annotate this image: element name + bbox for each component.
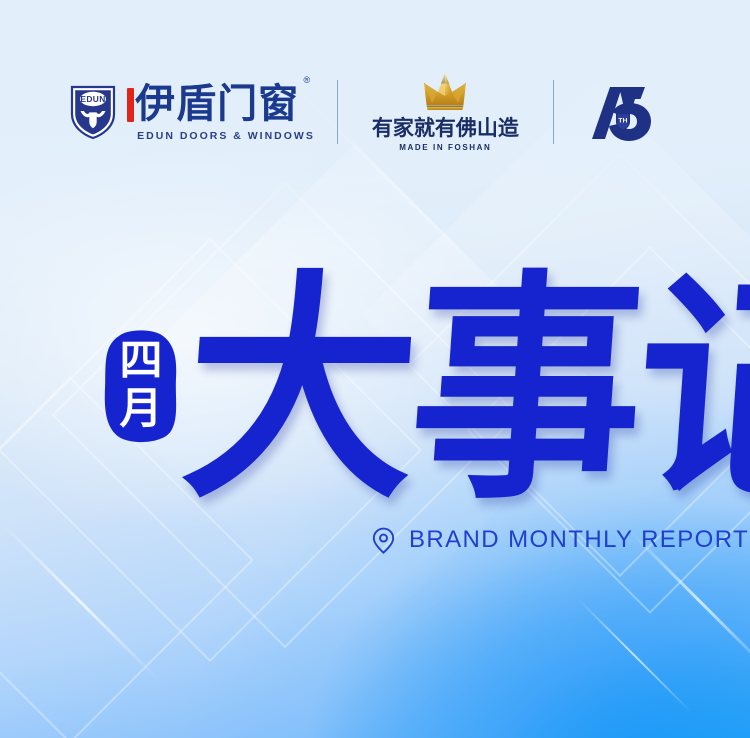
registered-mark: ® — [304, 75, 311, 85]
anniversary-badge: TH — [554, 81, 682, 143]
month-stamp: 四 月 — [101, 326, 181, 446]
foshan-english-slogan: MADE IN FOSHAN — [399, 143, 491, 152]
header-divider-1 — [337, 80, 338, 144]
edun-shield-logo-icon: EDUN — [68, 82, 118, 140]
foshan-chinese-slogan: 有家就有佛山造 — [372, 117, 519, 139]
subtitle-row: BRAND MONTHLY REPORT — [370, 526, 749, 554]
background-streak-5 — [578, 599, 693, 714]
brand-english-tagline: EDUN DOORS & WINDOWS — [127, 130, 315, 142]
brand-text-block: 伊盾门窗 ® EDUN DOORS & WINDOWS — [127, 82, 315, 142]
header-bar: EDUN 伊盾门窗 ® EDUN DOORS & WINDOWS — [0, 72, 750, 152]
svg-text:EDUN: EDUN — [80, 94, 105, 104]
subtitle-text: BRAND MONTHLY REPORT — [409, 526, 749, 554]
headline-calligraphy: 大事记 — [177, 273, 750, 514]
red-accent-bar — [127, 88, 134, 122]
header-divider-2 — [553, 80, 554, 144]
anniversary-ordinal-text: TH — [618, 118, 627, 125]
brand-chinese-name: 伊盾门窗 — [135, 84, 299, 124]
brand-lockup[interactable]: EDUN 伊盾门窗 ® EDUN DOORS & WINDOWS — [68, 82, 337, 142]
foshan-emblem: 有家就有佛山造 MADE IN FOSHAN — [338, 72, 553, 152]
brand-name-row: 伊盾门窗 ® — [127, 84, 299, 124]
location-pin-icon — [370, 527, 397, 554]
crown-icon — [408, 72, 482, 114]
poster-canvas: EDUN 伊盾门窗 ® EDUN DOORS & WINDOWS — [0, 0, 750, 738]
fifteenth-anniversary-icon: TH — [588, 81, 652, 143]
title-block: 四 月 大事记 BRAND MONTHLY REPORT — [0, 282, 750, 582]
month-stamp-brush-shape — [101, 326, 181, 446]
